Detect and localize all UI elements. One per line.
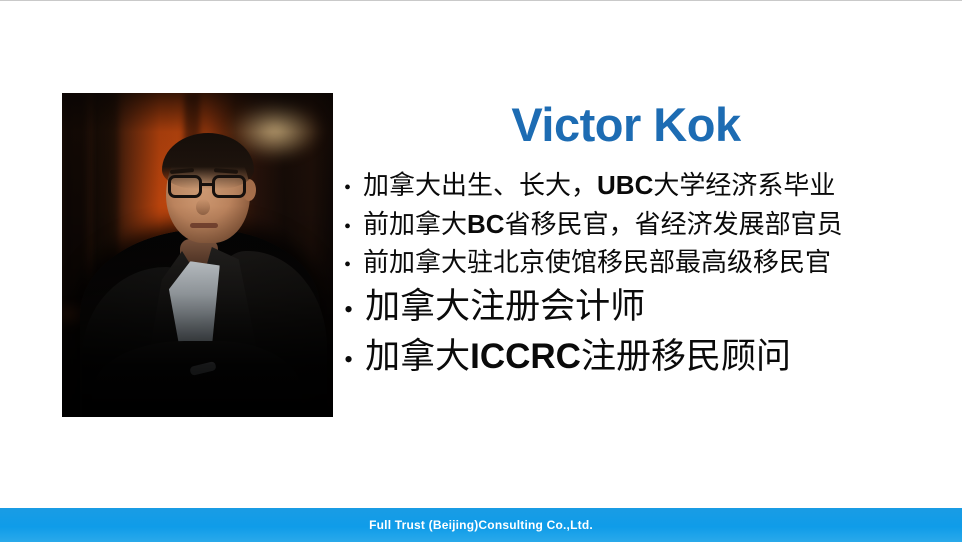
portrait-photo bbox=[62, 93, 333, 417]
footer-bar: Full Trust (Beijing)Consulting Co.,Ltd. bbox=[0, 508, 962, 542]
bullet-dot-icon: • bbox=[344, 178, 351, 198]
list-item-label: 前加拿大BC省移民官，省经济发展部官员 bbox=[363, 205, 843, 244]
list-item-label: 加拿大出生、长大，UBC大学经济系毕业 bbox=[363, 166, 835, 205]
slide-content: Victor Kok •加拿大出生、长大，UBC大学经济系毕业•前加拿大BC省移… bbox=[344, 101, 944, 382]
bullet-dot-icon: • bbox=[344, 347, 353, 373]
list-item: •前加拿大驻北京使馆移民部最高级移民官 bbox=[344, 244, 944, 282]
bullet-dot-icon: • bbox=[344, 255, 351, 275]
list-item: •加拿大ICCRC注册移民顾问 bbox=[344, 332, 944, 382]
bullet-dot-icon: • bbox=[344, 217, 351, 237]
bullet-dot-icon: • bbox=[344, 297, 353, 323]
list-item: •加拿大出生、长大，UBC大学经济系毕业 bbox=[344, 166, 944, 205]
credentials-list: •加拿大出生、长大，UBC大学经济系毕业•前加拿大BC省移民官，省经济发展部官员… bbox=[344, 166, 944, 382]
photo-vignette bbox=[62, 93, 333, 417]
list-item-label: 加拿大ICCRC注册移民顾问 bbox=[365, 332, 791, 382]
presentation-slide: Victor Kok •加拿大出生、长大，UBC大学经济系毕业•前加拿大BC省移… bbox=[0, 0, 962, 542]
footer-company-name: Full Trust (Beijing)Consulting Co.,Ltd. bbox=[369, 518, 593, 532]
list-item-label: 加拿大注册会计师 bbox=[365, 282, 645, 332]
list-item: •前加拿大BC省移民官，省经济发展部官员 bbox=[344, 205, 944, 244]
list-item: •加拿大注册会计师 bbox=[344, 282, 944, 332]
list-item-label: 前加拿大驻北京使馆移民部最高级移民官 bbox=[363, 244, 831, 282]
page-title: Victor Kok bbox=[344, 101, 944, 148]
